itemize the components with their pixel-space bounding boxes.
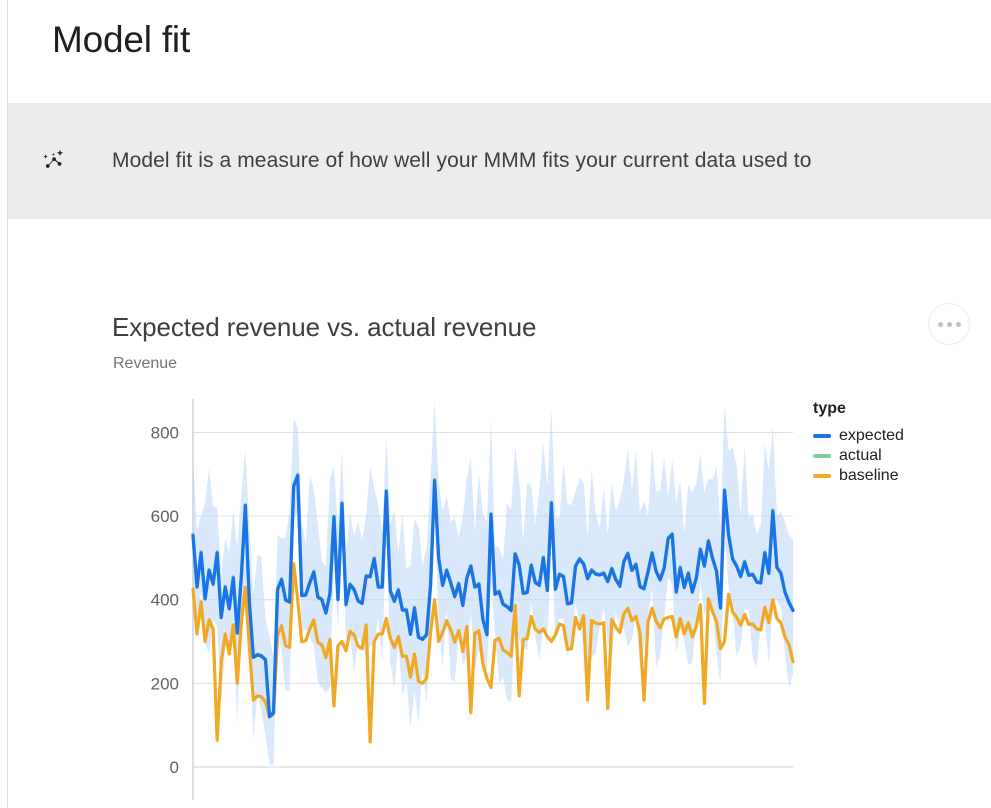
- legend-title: type: [813, 399, 983, 419]
- chart-legend: type expectedactualbaseline: [813, 399, 983, 486]
- more-dot-2: [947, 322, 952, 327]
- legend-item-actual[interactable]: actual: [813, 446, 983, 465]
- banner-description: Model fit is a measure of how well your …: [112, 146, 812, 176]
- legend-swatch-expected: [813, 434, 831, 438]
- legend-swatch-baseline: [813, 474, 831, 478]
- chart-title: Expected revenue vs. actual revenue: [112, 310, 536, 344]
- legend-label-baseline: baseline: [839, 466, 899, 485]
- legend-label-actual: actual: [839, 446, 882, 465]
- more-options-button[interactable]: [928, 303, 970, 345]
- legend-label-expected: expected: [839, 426, 904, 445]
- page-header: Model fit: [8, 0, 991, 103]
- legend-swatch-actual: [813, 454, 831, 458]
- legend-item-baseline[interactable]: baseline: [813, 466, 983, 485]
- y-axis-tick-200: 200: [151, 674, 179, 693]
- page-title: Model fit: [52, 17, 190, 63]
- legend-items: expectedactualbaseline: [813, 426, 983, 485]
- legend-item-expected[interactable]: expected: [813, 426, 983, 445]
- y-axis-tick-0: 0: [170, 758, 179, 777]
- y-axis-tick-600: 600: [151, 507, 179, 526]
- more-dot-1: [938, 322, 943, 327]
- info-banner: Model fit is a measure of how well your …: [8, 103, 991, 219]
- more-dot-3: [956, 322, 961, 327]
- chart-plot-area[interactable]: 0200400600800: [118, 394, 818, 804]
- chart-card: Expected revenue vs. actual revenue Reve…: [8, 219, 991, 808]
- insights-sparkle-icon: [32, 139, 76, 183]
- chart-subtitle: Revenue: [113, 353, 177, 375]
- line-chart-svg: 0200400600800: [118, 394, 818, 804]
- y-axis-tick-800: 800: [151, 423, 179, 442]
- model-fit-page: Model fit Model fit is a measure of how …: [0, 0, 991, 808]
- y-axis-tick-400: 400: [151, 591, 179, 610]
